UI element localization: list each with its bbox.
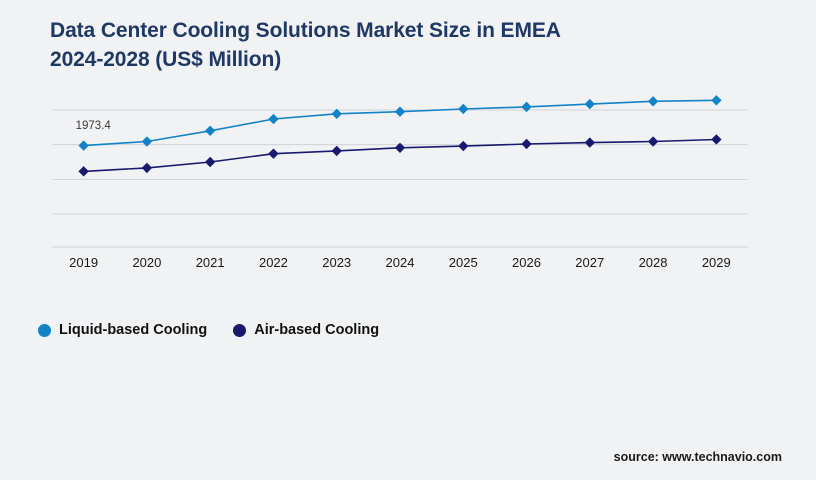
data-point-diamond-icon[interactable] [458, 104, 468, 114]
plot-area: 1973.4 [0, 90, 816, 255]
x-tick-2027: 2027 [558, 253, 621, 273]
data-point-diamond-icon[interactable] [711, 134, 721, 144]
legend-item-liquid-based-cooling[interactable]: Liquid-based Cooling [38, 322, 207, 338]
legend-item-air-based-cooling[interactable]: Air-based Cooling [233, 322, 379, 338]
data-point-diamond-icon[interactable] [395, 143, 405, 153]
x-tick-2026: 2026 [495, 253, 558, 273]
x-tick-2023: 2023 [305, 253, 368, 273]
data-point-diamond-icon[interactable] [648, 136, 658, 146]
data-point-diamond-icon[interactable] [205, 157, 215, 167]
chart-legend: Liquid-based CoolingAir-based Cooling [38, 322, 379, 338]
legend-label: Air-based Cooling [254, 322, 379, 338]
line-chart-svg [0, 90, 816, 255]
data-point-label-1973: 1973.4 [76, 120, 111, 132]
x-tick-2025: 2025 [432, 253, 495, 273]
data-point-diamond-icon[interactable] [521, 102, 531, 112]
chart-title: Data Center Cooling Solutions Market Siz… [50, 16, 730, 74]
data-point-diamond-icon[interactable] [395, 107, 405, 117]
series-lines [78, 95, 721, 176]
data-point-diamond-icon[interactable] [648, 96, 658, 106]
data-point-diamond-icon[interactable] [142, 163, 152, 173]
data-point-diamond-icon[interactable] [585, 99, 595, 109]
x-tick-2021: 2021 [179, 253, 242, 273]
data-point-diamond-icon[interactable] [268, 148, 278, 158]
data-point-diamond-icon[interactable] [521, 139, 531, 149]
gridlines [52, 110, 748, 214]
x-tick-2020: 2020 [115, 253, 178, 273]
x-tick-2028: 2028 [621, 253, 684, 273]
data-point-diamond-icon[interactable] [268, 114, 278, 124]
data-point-diamond-icon[interactable] [458, 141, 468, 151]
x-axis-tick-labels: 2019202020212022202320242025202620272028… [52, 253, 748, 273]
data-point-diamond-icon[interactable] [142, 136, 152, 146]
x-tick-2019: 2019 [52, 253, 115, 273]
x-tick-2022: 2022 [242, 253, 305, 273]
data-point-diamond-icon[interactable] [78, 166, 88, 176]
diamond-icon [233, 324, 246, 337]
data-point-diamond-icon[interactable] [711, 95, 721, 105]
x-tick-2024: 2024 [368, 253, 431, 273]
diamond-icon [38, 324, 51, 337]
data-point-diamond-icon[interactable] [205, 126, 215, 136]
series-air-based-cooling [78, 134, 721, 176]
source-label: source: www.technavio.com [614, 450, 782, 464]
data-point-diamond-icon[interactable] [78, 140, 88, 150]
legend-label: Liquid-based Cooling [59, 322, 207, 338]
data-point-diamond-icon[interactable] [332, 146, 342, 156]
x-tick-2029: 2029 [685, 253, 748, 273]
chart-card: Data Center Cooling Solutions Market Siz… [0, 0, 816, 480]
data-point-diamond-icon[interactable] [585, 137, 595, 147]
